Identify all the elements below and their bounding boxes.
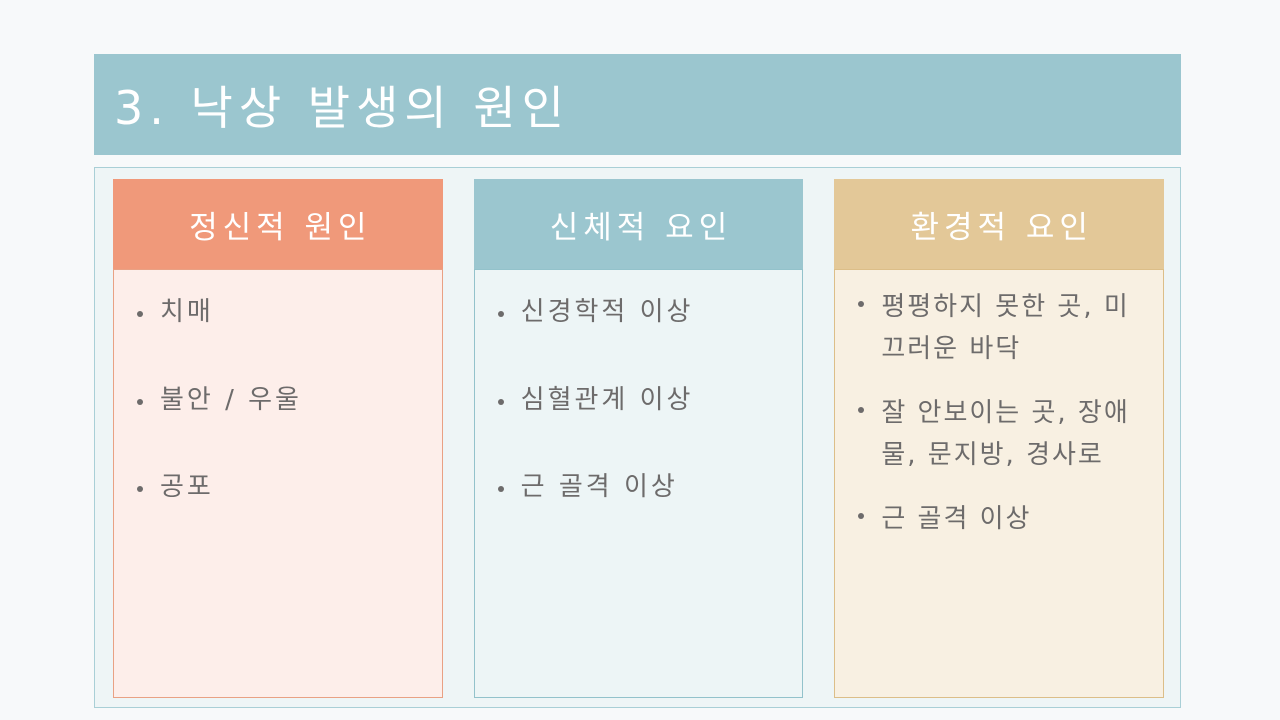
list-item: 잘 안보이는 곳, 장애물, 문지방, 경사로 (845, 392, 1153, 476)
category-body-mental: 치매 불안 / 우울 공포 (113, 269, 443, 698)
list-item: 심혈관계 이상 (485, 382, 793, 420)
category-body-physical: 신경학적 이상 심혈관계 이상 근 골격 이상 (474, 269, 804, 698)
category-header-label: 신체적 요인 (545, 202, 732, 247)
list-item: 근 골격 이상 (845, 498, 1153, 540)
list-item: 신경학적 이상 (485, 294, 793, 332)
list-item: 근 골격 이상 (485, 469, 793, 507)
bullet-list-physical: 신경학적 이상 심혈관계 이상 근 골격 이상 (485, 294, 793, 507)
category-header-mental: 정신적 원인 (113, 179, 443, 269)
category-card-physical: 신체적 요인 신경학적 이상 심혈관계 이상 근 골격 이상 (474, 179, 804, 698)
page-title: 3. 낙상 발생의 원인 (94, 72, 570, 138)
bullet-list-environmental: 평평하지 못한 곳, 미끄러운 바닥 잘 안보이는 곳, 장애물, 문지방, 경… (845, 286, 1153, 541)
category-card-mental: 정신적 원인 치매 불안 / 우울 공포 (113, 179, 443, 698)
list-item: 치매 (124, 294, 432, 332)
category-columns: 정신적 원인 치매 불안 / 우울 공포 신체적 요인 신경학적 이상 심혈관계… (113, 179, 1164, 698)
category-header-physical: 신체적 요인 (474, 179, 804, 269)
category-header-environmental: 환경적 요인 (834, 179, 1164, 269)
list-item: 불안 / 우울 (124, 382, 432, 420)
content-panel: 정신적 원인 치매 불안 / 우울 공포 신체적 요인 신경학적 이상 심혈관계… (94, 167, 1181, 708)
bullet-list-mental: 치매 불안 / 우울 공포 (124, 294, 432, 507)
category-card-environmental: 환경적 요인 평평하지 못한 곳, 미끄러운 바닥 잘 안보이는 곳, 장애물,… (834, 179, 1164, 698)
list-item: 공포 (124, 469, 432, 507)
list-item: 평평하지 못한 곳, 미끄러운 바닥 (845, 286, 1153, 370)
category-body-environmental: 평평하지 못한 곳, 미끄러운 바닥 잘 안보이는 곳, 장애물, 문지방, 경… (834, 269, 1164, 698)
category-header-label: 정신적 원인 (184, 202, 371, 247)
category-header-label: 환경적 요인 (905, 202, 1092, 247)
slide-title-bar: 3. 낙상 발생의 원인 (94, 54, 1181, 155)
